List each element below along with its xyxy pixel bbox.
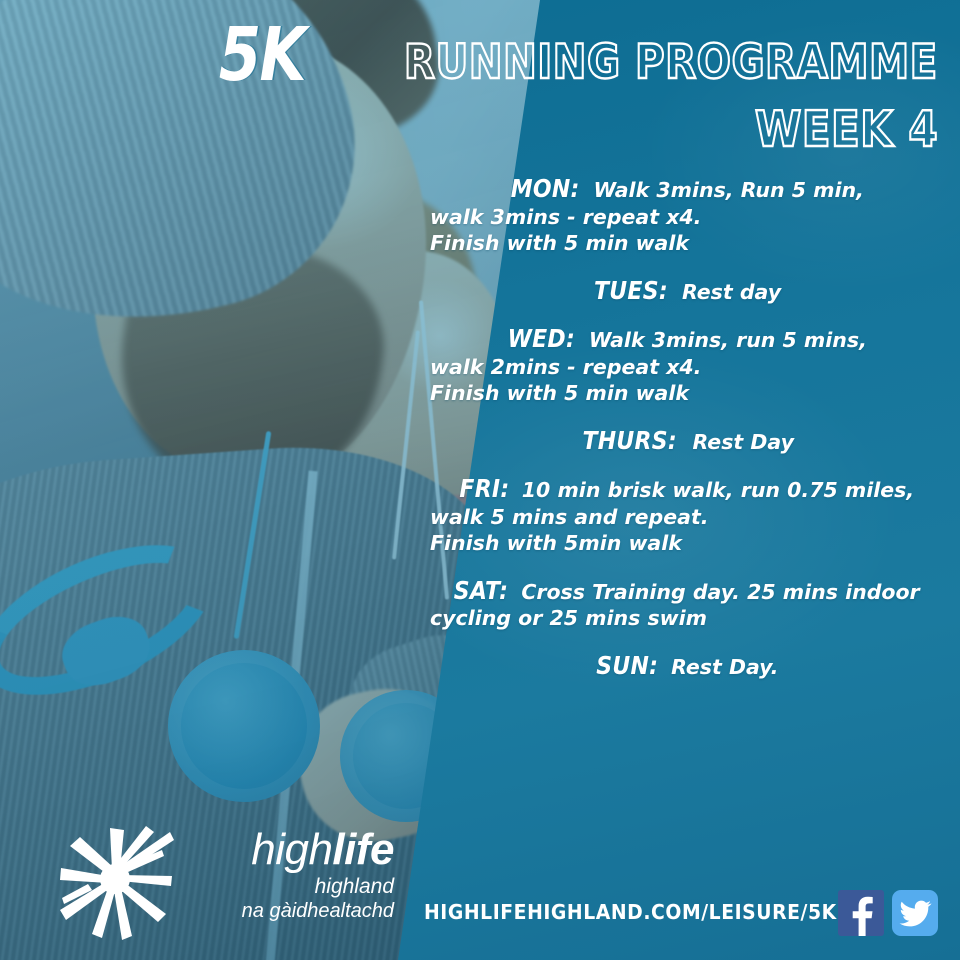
schedule-day-label: THURS: xyxy=(583,428,677,455)
logo-line-highland: highland xyxy=(184,874,394,899)
highlife-highland-logo: highlife highland na gàidhealtachd xyxy=(58,820,388,945)
schedule-day-text: Cross Training day. 25 mins indoor xyxy=(521,580,919,604)
schedule-day-line: walk 3mins - repeat x4. xyxy=(430,204,940,231)
schedule-day-text: Walk 3mins, Run 5 min, xyxy=(594,178,864,202)
logo-name: highlife xyxy=(184,828,394,872)
schedule-day-text: 10 min brisk walk, run 0.75 miles, xyxy=(522,478,914,502)
schedule-day-text: walk 3mins - repeat x4. xyxy=(430,205,701,229)
schedule-day-text: Rest day xyxy=(682,280,781,304)
distance-badge: 5K xyxy=(219,22,305,89)
title-row: 5K RUNNING PROGRAMME xyxy=(0,22,938,89)
schedule-day-first-line: TUES: Rest day xyxy=(430,278,940,306)
schedule-day-label: SAT: xyxy=(454,578,508,605)
schedule-day-label: WED: xyxy=(508,326,575,353)
schedule-day-line: Finish with 5 min walk xyxy=(430,230,940,257)
schedule-day-text: Rest Day xyxy=(693,430,794,454)
schedule-day-first-line: SUN: Rest Day. xyxy=(430,653,940,681)
schedule-day-line: Finish with 5min walk xyxy=(430,530,940,557)
logo-name-life: life xyxy=(332,825,394,874)
facebook-icon[interactable] xyxy=(838,890,884,936)
logo-name-high: high xyxy=(251,825,332,874)
weekly-schedule: MON: Walk 3mins, Run 5 min,walk 3mins - … xyxy=(430,176,940,701)
schedule-day: TUES: Rest day xyxy=(430,278,940,306)
schedule-day-label: FRI: xyxy=(459,476,509,503)
schedule-day-label: SUN: xyxy=(596,653,658,680)
schedule-day-first-line: MON: Walk 3mins, Run 5 min, xyxy=(430,176,940,204)
schedule-day-text: walk 5 mins and repeat. xyxy=(430,505,709,529)
schedule-day-text: Finish with 5 min walk xyxy=(430,231,689,255)
schedule-day-line: walk 5 mins and repeat. xyxy=(430,504,940,531)
schedule-day-first-line: THURS: Rest Day xyxy=(430,428,940,456)
schedule-day-line: walk 2mins - repeat x4. xyxy=(430,354,940,381)
schedule-day: THURS: Rest Day xyxy=(430,428,940,456)
week-subtitle: WEEK 4 xyxy=(755,105,938,154)
schedule-day-text: Rest Day. xyxy=(671,655,778,679)
schedule-day-text: walk 2mins - repeat x4. xyxy=(430,355,701,379)
schedule-day-text: cycling or 25 mins swim xyxy=(430,606,707,630)
schedule-day-first-line: FRI: 10 min brisk walk, run 0.75 miles, xyxy=(430,476,940,504)
twitter-icon[interactable] xyxy=(892,890,938,936)
schedule-day-text: Walk 3mins, run 5 mins, xyxy=(589,328,867,352)
schedule-day-line: Finish with 5 min walk xyxy=(430,380,940,407)
schedule-day-first-line: WED: Walk 3mins, run 5 mins, xyxy=(430,326,940,354)
week-row: WEEK 4 xyxy=(0,95,938,154)
schedule-day: FRI: 10 min brisk walk, run 0.75 miles,w… xyxy=(430,476,940,557)
page-title: RUNNING PROGRAMME xyxy=(404,39,938,86)
website-url[interactable]: HIGHLIFEHIGHLAND.COM/LEISURE/5K xyxy=(424,900,837,924)
logo-line-gaelic: na gàidhealtachd xyxy=(184,899,394,923)
logo-wordmark: highlife highland na gàidhealtachd xyxy=(184,828,394,923)
schedule-day-label: TUES: xyxy=(594,278,668,305)
header: 5K RUNNING PROGRAMME WEEK 4 xyxy=(0,22,938,154)
schedule-day: MON: Walk 3mins, Run 5 min,walk 3mins - … xyxy=(430,176,940,257)
schedule-day-text: Finish with 5min walk xyxy=(430,531,682,555)
schedule-day-text: Finish with 5 min walk xyxy=(430,381,689,405)
schedule-day-label: MON: xyxy=(511,176,580,203)
schedule-day: SAT: Cross Training day. 25 mins indoorc… xyxy=(430,578,940,632)
schedule-day-first-line: SAT: Cross Training day. 25 mins indoor xyxy=(430,578,940,606)
schedule-day: SUN: Rest Day. xyxy=(430,653,940,681)
social-links xyxy=(838,890,938,936)
starburst-icon xyxy=(58,824,174,940)
schedule-day-line: cycling or 25 mins swim xyxy=(430,605,940,632)
poster-5k-running-programme: 5K RUNNING PROGRAMME WEEK 4 MON: Walk 3m… xyxy=(0,0,960,960)
schedule-day: WED: Walk 3mins, run 5 mins,walk 2mins -… xyxy=(430,326,940,407)
